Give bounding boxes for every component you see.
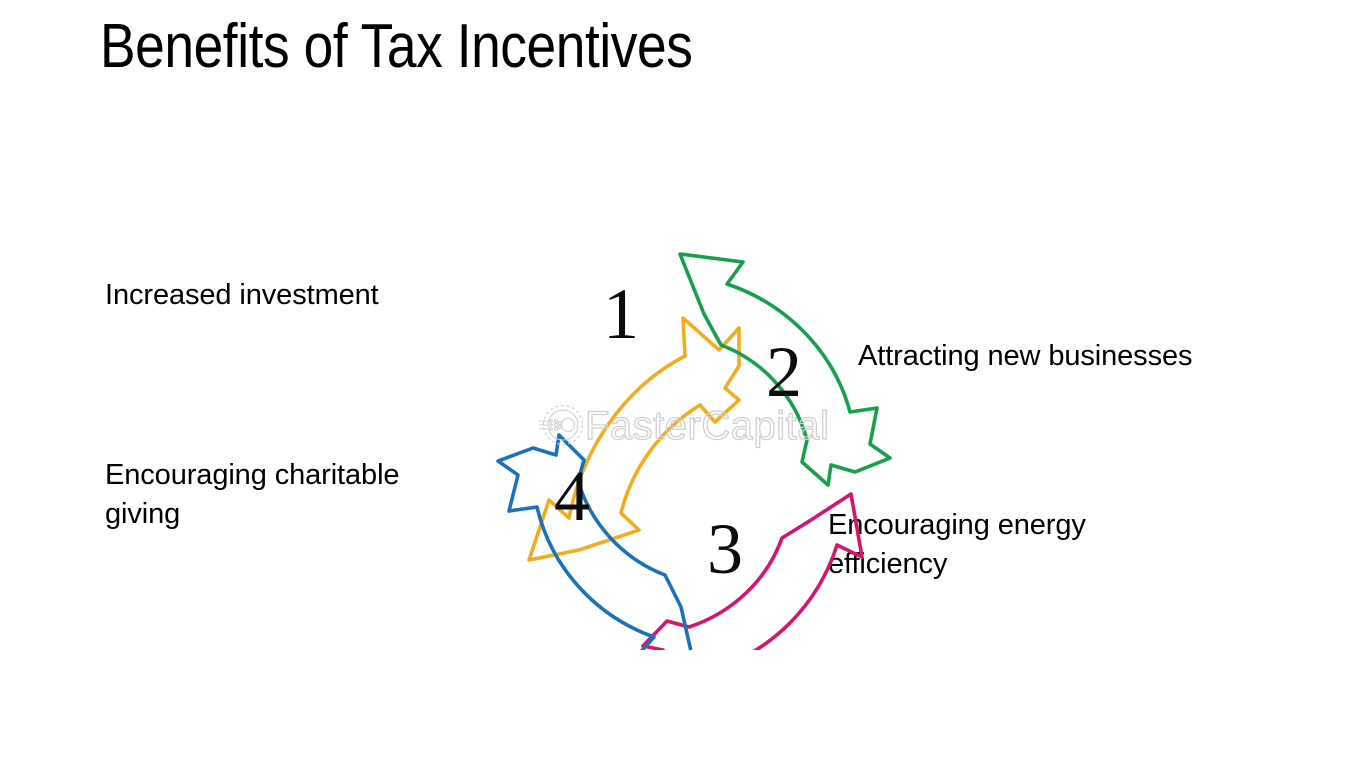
cycle-arrow-3 <box>643 494 862 650</box>
step-number-2: 2 <box>766 332 802 412</box>
step-label-4-line-2: giving <box>105 495 485 534</box>
page-title: Benefits of Tax Incentives <box>100 14 692 81</box>
step-label-2: Attracting new businesses <box>858 337 1288 376</box>
step-number-1: 1 <box>603 274 639 354</box>
step-label-4-line-1: Encouraging charitable <box>105 456 485 495</box>
step-number-3: 3 <box>707 509 743 589</box>
step-number-4: 4 <box>554 456 590 536</box>
step-label-1: Increased investment <box>105 276 485 315</box>
cycle-diagram: 1 2 3 4 <box>487 200 907 650</box>
slide-canvas: Benefits of Tax Incentives Increased inv… <box>0 0 1350 759</box>
step-label-4: Encouraging charitable giving <box>105 456 485 534</box>
